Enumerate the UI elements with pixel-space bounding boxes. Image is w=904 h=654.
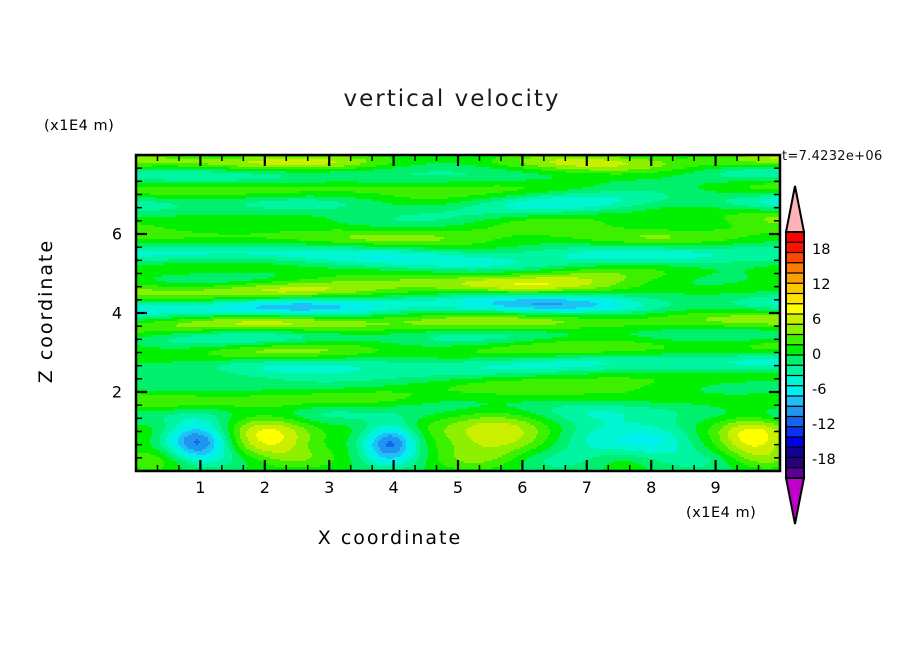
- y-axis-title: Z coordinate: [35, 221, 57, 401]
- x-tick-label: 2: [260, 478, 270, 497]
- colorbar-tick-label: -12: [812, 417, 836, 433]
- y-tick-label: 2: [104, 383, 122, 402]
- y-tick-label: 4: [104, 304, 122, 323]
- x-axis-unit-label: (x1E4 m): [686, 505, 756, 521]
- colorbar-tick-label: 6: [812, 312, 821, 328]
- x-axis-title: X coordinate: [0, 527, 780, 549]
- y-axis-unit-label: (x1E4 m): [44, 118, 114, 134]
- colorbar: [786, 186, 804, 524]
- x-tick-label: 9: [711, 478, 721, 497]
- plot-frame: [136, 155, 780, 471]
- x-tick-label: 7: [582, 478, 592, 497]
- x-tick-label: 1: [195, 478, 205, 497]
- x-tick-label: 3: [324, 478, 334, 497]
- x-tick-label: 4: [389, 478, 399, 497]
- y-tick-label: 6: [104, 225, 122, 244]
- axis-ticks: [136, 155, 780, 471]
- colorbar-tick-label: -6: [812, 382, 826, 398]
- x-tick-label: 6: [517, 478, 527, 497]
- colorbar-tick-label: 18: [812, 242, 830, 258]
- colorbar-tick-label: -18: [812, 452, 836, 468]
- colorbar-tick-label: 12: [812, 277, 830, 293]
- page-title: vertical velocity: [0, 86, 904, 112]
- x-tick-label: 5: [453, 478, 463, 497]
- velocity-field: [136, 155, 781, 472]
- timestamp-label: t=7.4232e+06: [782, 149, 883, 164]
- x-tick-label: 8: [646, 478, 656, 497]
- colorbar-tick-label: 0: [812, 347, 821, 363]
